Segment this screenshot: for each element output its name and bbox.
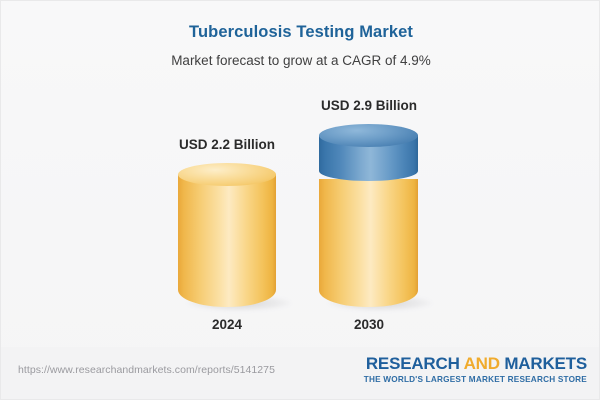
brand-word-and: AND bbox=[464, 354, 500, 373]
bar-value-label-2024: USD 2.2 Billion bbox=[142, 137, 312, 152]
bar-top-ellipse-2024 bbox=[178, 163, 276, 186]
brand-word-research: RESEARCH bbox=[366, 354, 460, 373]
brand-wordmark: RESEARCH AND MARKETS bbox=[364, 355, 587, 373]
source-url-link[interactable]: https://www.researchandmarkets.com/repor… bbox=[18, 364, 275, 376]
bar-category-label-2030: 2030 bbox=[284, 317, 454, 332]
bar-cylinder-2024[interactable] bbox=[178, 163, 276, 307]
plot-area: USD 2.2 Billion 2024 USD 2.9 Billion 203… bbox=[1, 1, 600, 349]
bar-body-base-2024 bbox=[178, 174, 276, 307]
brand-word-markets: MARKETS bbox=[504, 354, 587, 373]
bar-value-label-2030: USD 2.9 Billion bbox=[284, 98, 454, 113]
bar-body-base-2030 bbox=[319, 179, 418, 307]
footer: https://www.researchandmarkets.com/repor… bbox=[1, 347, 600, 399]
bar-top-ellipse-2030 bbox=[319, 124, 418, 147]
brand-logo[interactable]: RESEARCH AND MARKETS THE WORLD'S LARGEST… bbox=[364, 355, 587, 384]
bar-cylinder-2030[interactable] bbox=[319, 124, 418, 307]
chart-canvas: Tuberculosis Testing Market Market forec… bbox=[0, 0, 600, 400]
brand-tagline: THE WORLD'S LARGEST MARKET RESEARCH STOR… bbox=[364, 375, 587, 384]
